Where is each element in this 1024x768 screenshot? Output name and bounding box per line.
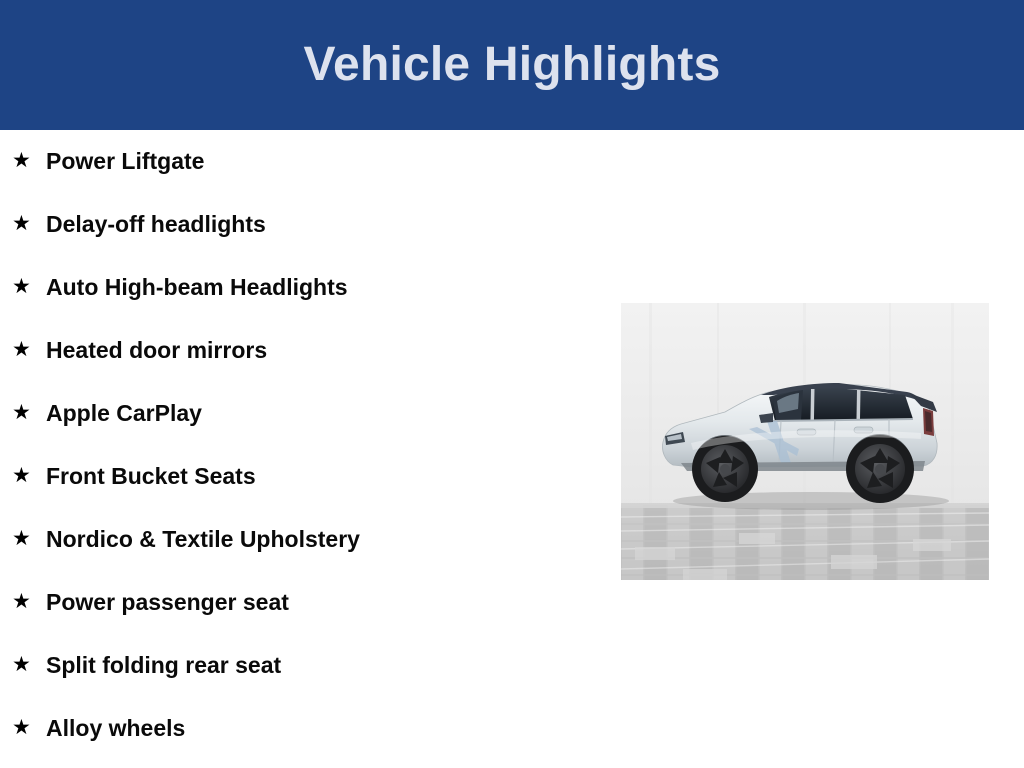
rear-wheel [846, 435, 914, 503]
star-icon: ★ [12, 465, 34, 486]
list-item: ★ Power Liftgate [0, 130, 600, 193]
vehicle-side-profile-image [621, 303, 989, 580]
list-item-label: Power passenger seat [46, 591, 289, 614]
list-item: ★ Nordico & Textile Upholstery [0, 508, 600, 571]
content-area: ★ Power Liftgate ★ Delay-off headlights … [0, 130, 1024, 768]
list-item-label: Auto High-beam Headlights [46, 276, 348, 299]
list-item: ★ Auto High-beam Headlights [0, 256, 600, 319]
star-icon: ★ [12, 591, 34, 612]
list-item: ★ Heated door mirrors [0, 319, 600, 382]
page-title: Vehicle Highlights [303, 41, 720, 89]
list-item: ★ Split folding rear seat [0, 634, 600, 697]
list-item: ★ Alloy wheels [0, 697, 600, 760]
tail-light-inner [925, 411, 932, 432]
list-item: ★ Front Bucket Seats [0, 445, 600, 508]
star-icon: ★ [12, 402, 34, 423]
list-item: ★ Power passenger seat [0, 571, 600, 634]
list-item-label: Alloy wheels [46, 717, 185, 740]
star-icon: ★ [12, 213, 34, 234]
vehicle-highlights-list: ★ Power Liftgate ★ Delay-off headlights … [0, 130, 600, 760]
list-item: ★ Apple CarPlay [0, 382, 600, 445]
list-item-label: Apple CarPlay [46, 402, 202, 425]
list-item: ★ Delay-off headlights [0, 193, 600, 256]
list-item-label: Nordico & Textile Upholstery [46, 528, 360, 551]
star-icon: ★ [12, 150, 34, 171]
star-icon: ★ [12, 276, 34, 297]
list-item-label: Front Bucket Seats [46, 465, 256, 488]
vehicle-photo [621, 303, 989, 580]
list-item-label: Delay-off headlights [46, 213, 266, 236]
star-icon: ★ [12, 717, 34, 738]
list-item-label: Power Liftgate [46, 150, 204, 173]
list-item-label: Split folding rear seat [46, 654, 281, 677]
paver-texture [621, 505, 989, 580]
star-icon: ★ [12, 528, 34, 549]
star-icon: ★ [12, 339, 34, 360]
header-banner: Vehicle Highlights [0, 0, 1024, 130]
list-item-label: Heated door mirrors [46, 339, 267, 362]
star-icon: ★ [12, 654, 34, 675]
